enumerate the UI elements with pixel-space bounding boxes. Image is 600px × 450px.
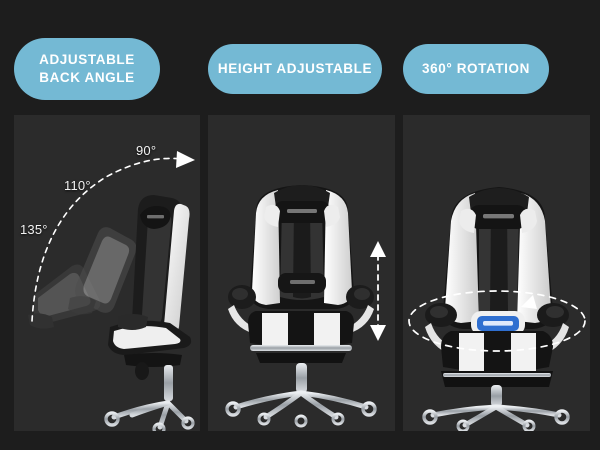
panel-height [208,115,395,431]
caster-wheel [183,418,193,428]
chair-side-90 [106,195,193,431]
caster-wheel [333,414,343,424]
badge-1-line-2: BACK ANGLE [39,69,135,87]
chair-three-quarter [424,187,569,431]
badge-360-rotation: 360° ROTATION [403,44,549,94]
angle-label-90: 90° [136,143,156,158]
panel-recline: 135° 110° 90° [14,115,200,431]
chair-base-star [433,407,559,425]
recline-illustration [14,115,200,431]
badge-2-label: HEIGHT ADJUSTABLE [218,60,372,78]
badge-height-adjustable: HEIGHT ADJUSTABLE [208,44,382,94]
infographic-canvas: ADJUSTABLE BACK ANGLE HEIGHT ADJUSTABLE … [0,0,600,450]
brand-mark-lumbar [290,280,315,284]
badge-1-line-1: ADJUSTABLE [39,51,135,69]
badge-adjustable-back-angle: ADJUSTABLE BACK ANGLE [14,38,160,100]
feature-badge-row: ADJUSTABLE BACK ANGLE HEIGHT ADJUSTABLE … [0,0,600,115]
badge-3-label: 360° ROTATION [422,60,530,78]
brand-mark-headrest [147,215,164,218]
height-adjust-arrow [370,241,386,341]
angle-label-135: 135° [20,222,48,237]
brand-mark-lumbar [483,321,513,326]
chair-base-star [114,403,186,427]
rotation-illustration [403,115,590,431]
caster-wheel [259,414,269,424]
angle-label-110: 110° [64,178,91,193]
caster-wheel [296,416,306,426]
panel-rotation [403,115,590,431]
gas-lift-cylinder [296,363,307,393]
recline-arrow-head [176,151,195,168]
feature-panel-row: 135° 110° 90° [0,115,600,431]
caster-wheel [106,413,118,425]
height-illustration [208,115,395,431]
chair-front [227,185,375,426]
gas-lift-cylinder [491,385,502,407]
chair-base-star [236,393,366,417]
brand-mark-headrest [287,209,317,213]
brand-mark-headrest [483,214,514,218]
